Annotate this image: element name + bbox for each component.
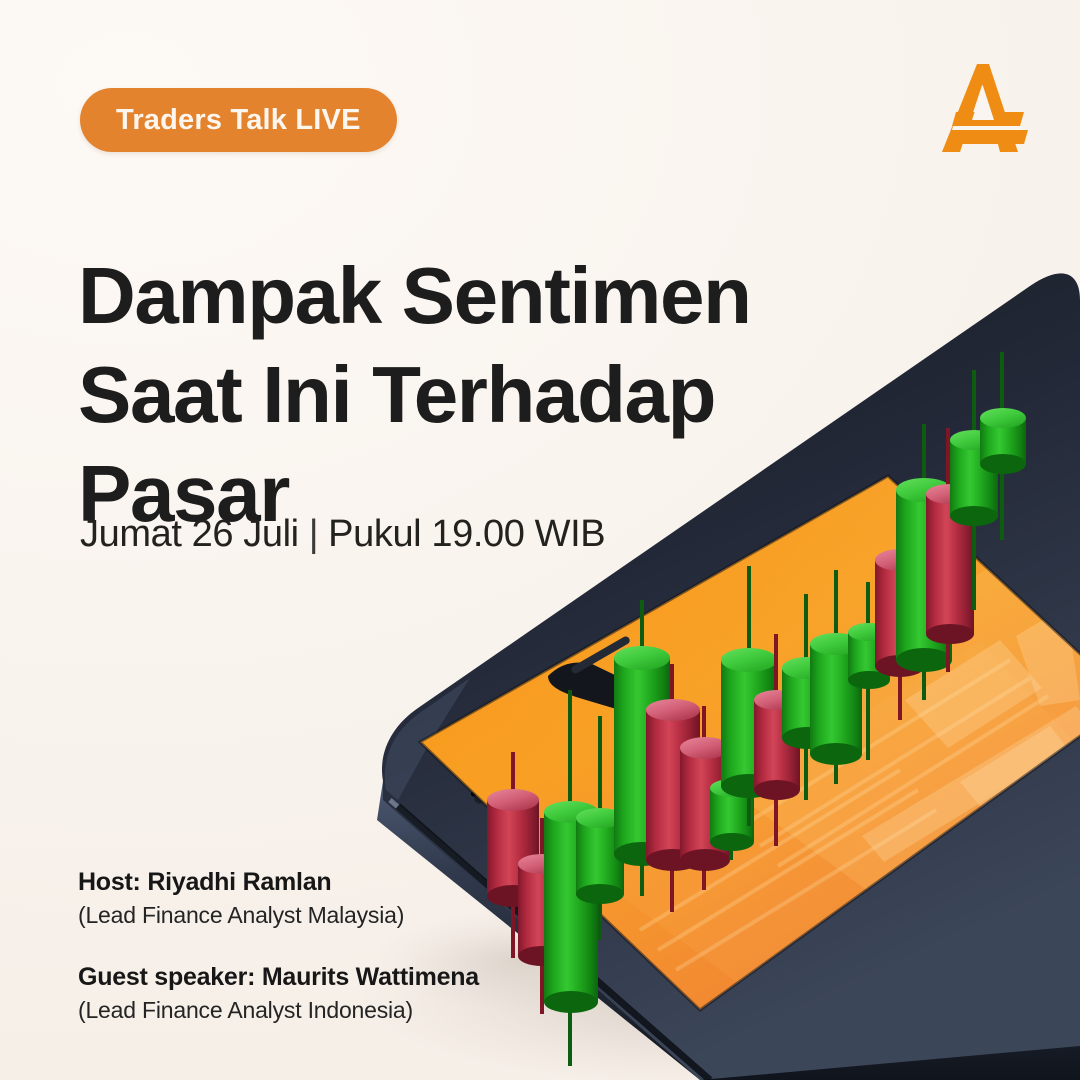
phone-screen (420, 476, 1080, 1074)
phone-notch (548, 635, 655, 716)
candle-green-3 (614, 600, 670, 896)
headline-line-1: Dampak Sentimen (78, 246, 798, 345)
host-name: Host: Riyadhi Ramlan (78, 866, 479, 899)
candle-green-9 (896, 424, 952, 700)
traders-talk-live-badge[interactable]: Traders Talk LIVE (80, 88, 397, 152)
speaker-credits: Host: Riyadhi Ramlan (Lead Finance Analy… (78, 866, 479, 1026)
candle-green-6 (782, 594, 832, 800)
candle-green-4 (710, 672, 754, 860)
candle-red-2 (518, 818, 566, 1014)
candle-red-4 (680, 706, 730, 890)
guest-name: Guest speaker: Maurits Wattimena (78, 961, 479, 994)
candle-green-2 (576, 716, 624, 940)
host-role: (Lead Finance Analyst Malaysia) (78, 899, 479, 931)
schedule-separator: | (309, 513, 318, 556)
guest-role: (Lead Finance Analyst Indonesia) (78, 994, 479, 1026)
candle-green-7 (810, 570, 862, 784)
page-title: Dampak Sentimen Saat Ini Terhadap Pasar (78, 246, 798, 544)
candle-green-1 (544, 690, 598, 1066)
candle-green-10 (950, 370, 998, 610)
candle-red-5 (754, 634, 800, 846)
promo-poster: Traders Talk LIVE Dampak Sentimen Saat I… (0, 0, 1080, 1080)
phone-volume-buttons (470, 770, 517, 806)
badge-label: Traders Talk LIVE (116, 104, 361, 137)
candle-green-11 (980, 352, 1026, 540)
credit-host: Host: Riyadhi Ramlan (Lead Finance Analy… (78, 866, 479, 931)
credit-guest: Guest speaker: Maurits Wattimena (Lead F… (78, 961, 479, 1026)
candle-red-7 (926, 428, 974, 672)
ascendex-a-logo-icon[interactable] (934, 58, 1030, 158)
candle-green-8 (848, 582, 890, 760)
headline-line-2: Saat Ini Terhadap (78, 345, 798, 444)
event-time: Pukul 19.00 WIB (328, 513, 605, 555)
candle-green-5 (721, 566, 777, 826)
candle-red-6 (875, 512, 925, 720)
event-date: Jumat 26 Juli (80, 513, 299, 555)
candle-red-1 (487, 752, 539, 958)
candle-red-3 (646, 664, 700, 912)
event-schedule: Jumat 26 Juli|Pukul 19.00 WIB (80, 513, 605, 556)
